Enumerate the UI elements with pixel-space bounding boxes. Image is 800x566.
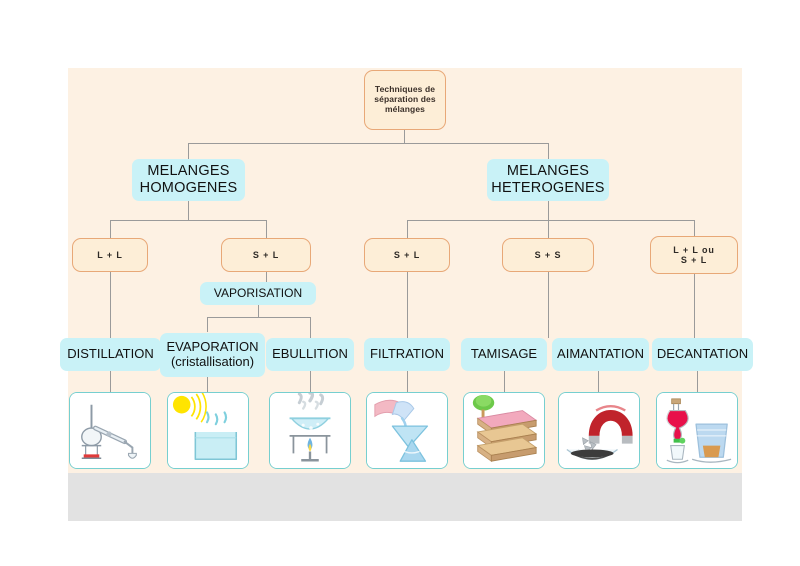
connector-distillation-to-tile xyxy=(110,371,111,392)
node-method-filtration[interactable]: FILTRATION xyxy=(364,338,450,371)
melanges-heterogenes-line2: HETEROGENES xyxy=(491,180,604,197)
tile-tamisage[interactable] xyxy=(463,392,545,469)
connector-sl-to-vaporisation xyxy=(266,272,267,282)
state-hetero-llsl-line2: S + L xyxy=(673,255,715,265)
vaporisation-label: VAPORISATION xyxy=(214,287,302,301)
node-method-aimantation[interactable]: AIMANTATION xyxy=(552,338,649,371)
connector-root-down xyxy=(404,130,405,144)
boiling-beaker-burner-icon xyxy=(270,393,350,468)
node-melanges-heterogenes[interactable]: MELANGES HETEROGENES xyxy=(487,159,609,201)
slide-shadow-bar xyxy=(68,473,742,521)
connector-aimantation-to-tile xyxy=(598,371,599,392)
node-state-homo-ll[interactable]: L + L xyxy=(72,238,148,272)
sun-over-basin-icon xyxy=(168,393,248,468)
method-ebullition-label: EBULLITION xyxy=(272,347,348,362)
tile-filtration[interactable] xyxy=(366,392,448,469)
root-line3: mélanges xyxy=(374,105,435,115)
connector-heterogenes-bus xyxy=(407,220,694,221)
connector-to-hetero-ss xyxy=(548,220,549,238)
connector-to-homo-sl xyxy=(266,220,267,238)
connector-to-ebullition xyxy=(310,317,311,338)
connector-to-evaporation xyxy=(207,317,208,332)
tile-decantation[interactable] xyxy=(656,392,738,469)
method-evaporation-line2: (cristallisation) xyxy=(167,355,259,370)
distillation-apparatus-icon xyxy=(70,393,150,468)
node-method-distillation[interactable]: DISTILLATION xyxy=(60,338,161,371)
melanges-heterogenes-line1: MELANGES xyxy=(491,163,604,180)
connector-ebullition-to-tile xyxy=(310,371,311,392)
connector-to-hetero-sl xyxy=(407,220,408,238)
node-method-tamisage[interactable]: TAMISAGE xyxy=(461,338,547,371)
connector-homogenes-bus xyxy=(110,220,267,221)
method-evaporation-line1: EVAPORATION xyxy=(167,340,259,355)
pouring-filter-funnel-icon xyxy=(367,393,447,468)
state-homo-sl-line1: S + L xyxy=(253,250,279,260)
connector-root-bus xyxy=(188,143,549,144)
melanges-homogenes-line2: HOMOGENES xyxy=(140,180,238,197)
tile-distillation[interactable] xyxy=(69,392,151,469)
connector-heteross-to-tamisage xyxy=(548,272,549,338)
melanges-homogenes-line1: MELANGES xyxy=(140,163,238,180)
connector-to-heterogenes xyxy=(548,143,549,159)
state-hetero-sl-line1: S + L xyxy=(394,250,420,260)
node-root[interactable]: Techniques de séparation des mélanges xyxy=(364,70,446,130)
connector-spacer xyxy=(588,272,589,338)
stacked-sieves-icon xyxy=(464,393,544,468)
method-tamisage-label: TAMISAGE xyxy=(471,347,537,362)
node-state-hetero-ss[interactable]: S + S xyxy=(502,238,594,272)
connector-to-homogenes xyxy=(188,143,189,159)
state-hetero-llsl-line1: L + L ou xyxy=(673,245,715,255)
connector-tamisage-to-tile xyxy=(504,371,505,392)
connector-evaporation-to-tile xyxy=(207,377,208,392)
method-distillation-label: DISTILLATION xyxy=(67,347,153,362)
connector-to-homo-ll xyxy=(110,220,111,238)
connector-vaporisation-bus xyxy=(207,317,310,318)
node-state-homo-sl[interactable]: S + L xyxy=(221,238,311,272)
node-state-hetero-llsl[interactable]: L + L ou S + L xyxy=(650,236,738,274)
connector-decantation-to-tile xyxy=(697,371,698,392)
magnet-iron-filings-icon xyxy=(559,393,639,468)
method-filtration-label: FILTRATION xyxy=(370,347,444,362)
connector-heterogenes-down xyxy=(548,200,549,221)
node-state-hetero-sl[interactable]: S + L xyxy=(364,238,450,272)
method-decantation-label: DECANTATION xyxy=(657,347,748,362)
tile-ebullition[interactable] xyxy=(269,392,351,469)
node-method-ebullition[interactable]: EBULLITION xyxy=(266,338,354,371)
node-vaporisation[interactable]: VAPORISATION xyxy=(200,282,316,305)
method-aimantation-label: AIMANTATION xyxy=(557,347,644,362)
connector-heteroll-to-decantation xyxy=(694,272,695,338)
separating-funnel-beaker-icon xyxy=(657,393,737,468)
connector-filtration-to-tile xyxy=(407,371,408,392)
connector-ll-to-distillation xyxy=(110,272,111,338)
node-method-decantation[interactable]: DECANTATION xyxy=(652,338,753,371)
state-hetero-ss-line1: S + S xyxy=(535,250,562,260)
node-melanges-homogenes[interactable]: MELANGES HOMOGENES xyxy=(132,159,245,201)
node-method-evaporation[interactable]: EVAPORATION (cristallisation) xyxy=(160,333,265,377)
connector-heterosl-to-filtration xyxy=(407,272,408,338)
connector-homogenes-down xyxy=(188,200,189,221)
tile-evaporation[interactable] xyxy=(167,392,249,469)
screenshot-canvas: Techniques de séparation des mélanges ME… xyxy=(0,0,800,566)
tile-aimantation[interactable] xyxy=(558,392,640,469)
state-homo-ll-line1: L + L xyxy=(97,250,123,260)
